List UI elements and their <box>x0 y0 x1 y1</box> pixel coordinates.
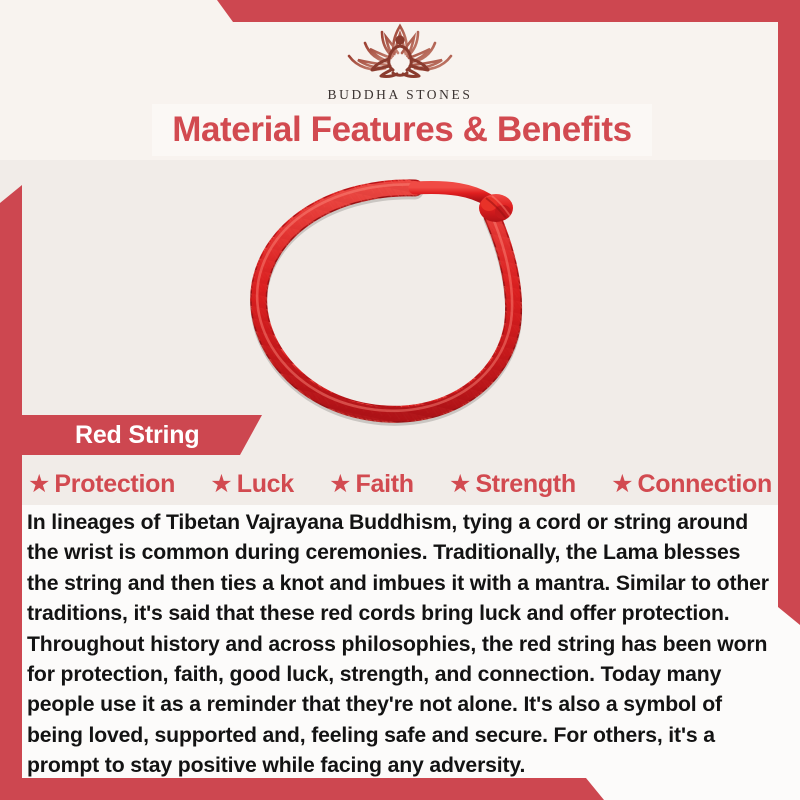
feature-item-faith: ★ Faith <box>329 470 414 499</box>
feature-label: Connection <box>637 470 772 499</box>
star-icon: ★ <box>210 472 232 497</box>
feature-label: Protection <box>54 470 175 499</box>
star-icon: ★ <box>28 472 50 497</box>
decorative-band-left <box>0 185 22 800</box>
feature-item-protection: ★ Protection <box>28 470 175 499</box>
page-title-plate: Material Features & Benefits <box>152 104 652 156</box>
section-ribbon: Red String <box>22 415 262 455</box>
star-icon: ★ <box>611 472 633 497</box>
infographic-page: BUDDHA STONES Material Features & Benefi… <box>0 0 800 800</box>
page-title: Material Features & Benefits <box>172 110 632 150</box>
feature-list: ★ Protection ★ Luck ★ Faith ★ Strength ★… <box>28 466 772 502</box>
feature-item-luck: ★ Luck <box>210 470 294 499</box>
description-text: In lineages of Tibetan Vajrayana Buddhis… <box>27 508 775 782</box>
brand-logo: BUDDHA STONES <box>0 18 800 103</box>
red-braided-string-bracelet-illustration <box>200 160 620 440</box>
lotus-meditation-icon <box>325 18 475 84</box>
section-ribbon-label: Red String <box>75 421 199 450</box>
star-icon: ★ <box>329 472 351 497</box>
brand-name: BUDDHA STONES <box>0 87 800 103</box>
feature-label: Luck <box>237 470 294 499</box>
feature-label: Faith <box>356 470 414 499</box>
feature-item-connection: ★ Connection <box>611 470 772 499</box>
feature-item-strength: ★ Strength <box>449 470 576 499</box>
bracelet-knot <box>479 194 513 222</box>
star-icon: ★ <box>449 472 471 497</box>
product-image <box>200 160 620 440</box>
feature-label: Strength <box>475 470 575 499</box>
